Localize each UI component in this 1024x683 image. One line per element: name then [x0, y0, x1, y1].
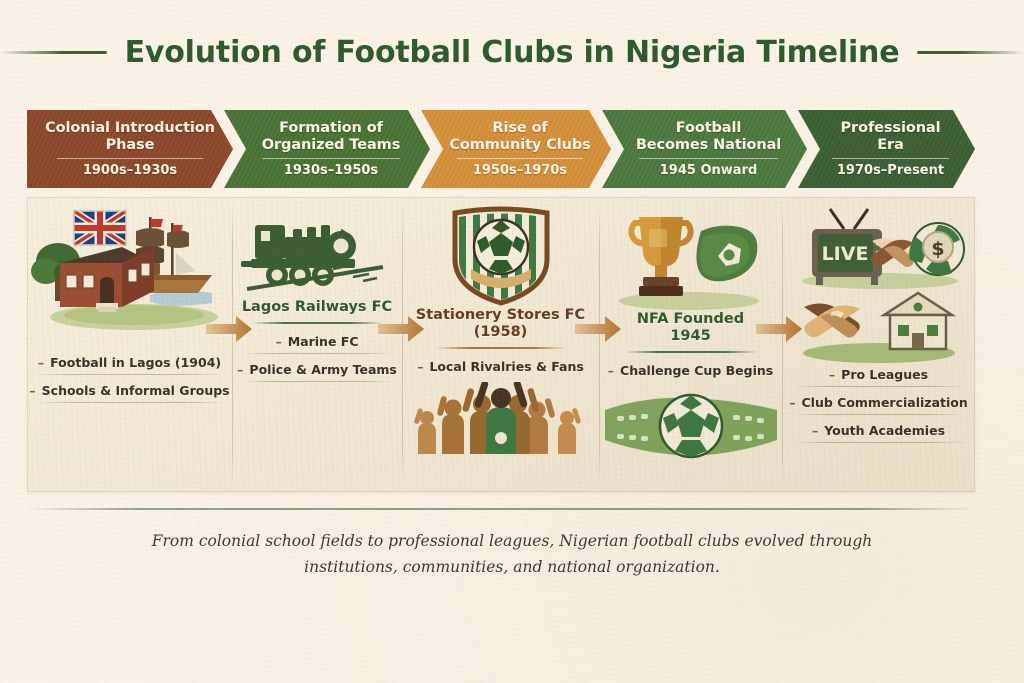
- bullet-divider: [242, 381, 392, 382]
- list-item-label: Marine FC: [288, 334, 359, 349]
- bullet-divider: [793, 386, 965, 387]
- phase-title-line1: Formation of: [279, 120, 383, 137]
- list-item[interactable]: – Pro Leagues: [829, 365, 928, 386]
- club-crest-illustration: [441, 203, 561, 307]
- soccer-ball-icon: [660, 395, 722, 457]
- list-item-label: Football in Lagos (1904): [50, 355, 221, 370]
- list-item-label: Local Rivalries & Fans: [429, 359, 583, 374]
- phase-years: 1945 Onward: [660, 163, 758, 178]
- phase-title-line1: Colonial Introduction: [45, 120, 215, 137]
- bullet-divider: [35, 374, 224, 375]
- colonial-scene-illustration: [30, 203, 230, 331]
- list-item[interactable]: – Challenge Cup Begins: [608, 361, 773, 382]
- phase-years: 1950s–1970s: [473, 163, 567, 178]
- phase-banner-formation-of-organized-teams[interactable]: Formation of Organized Teams 1930s–1950s: [224, 110, 430, 188]
- bullet-list: – Challenge Cup Begins: [607, 361, 774, 382]
- phase-years: 1930s–1950s: [284, 163, 378, 178]
- column-headline-secondary: (1958): [474, 324, 528, 341]
- phase-divider: [262, 158, 401, 159]
- soccer-ball-icon: [474, 220, 528, 274]
- phase-banner-row: Colonial Introduction Phase 1900s–1930s …: [27, 110, 975, 188]
- phase-title-line2: Becomes National: [636, 137, 781, 154]
- timeline-column-formation-of-organized-teams: Lagos Railways FC – Marine FC – Police &…: [232, 197, 402, 492]
- phase-banner-colonial-introduction-phase[interactable]: Colonial Introduction Phase 1900s–1930s: [27, 110, 233, 188]
- pitch-ball-illustration: [601, 388, 781, 462]
- bullet-dash-icon: –: [789, 395, 795, 410]
- list-item-label: Youth Academies: [824, 423, 945, 438]
- timeline-column-colonial-introduction-phase: – Football in Lagos (1904) – Schools & I…: [27, 197, 232, 492]
- list-item[interactable]: – Football in Lagos (1904): [38, 353, 221, 374]
- phase-title-line2: Era: [877, 137, 904, 154]
- timeline-column-rise-of-community-clubs: Stationery Stores FC (1958) – Local Riva…: [402, 197, 599, 492]
- list-item-label: Pro Leagues: [841, 367, 928, 382]
- title-text: Evolution of Football Clubs in Nigeria T…: [125, 35, 900, 70]
- money-soccer-ball-icon: $: [909, 223, 964, 275]
- flow-arrow-1: [206, 316, 252, 342]
- phase-banner-rise-of-community-clubs[interactable]: Rise of Community Clubs 1950s–1970s: [421, 110, 611, 188]
- handshake-icon: [804, 303, 860, 337]
- phase-title-line2: Phase: [106, 137, 155, 154]
- phase-title-line1: Football: [676, 120, 741, 137]
- list-item[interactable]: – Marine FC: [275, 332, 358, 353]
- phase-banner-professional-era[interactable]: Professional Era 1970s–Present: [798, 110, 975, 188]
- phase-years: 1900s–1930s: [83, 163, 177, 178]
- bullet-divider: [793, 414, 965, 415]
- bullet-dash-icon: –: [29, 383, 35, 398]
- list-item[interactable]: – Youth Academies: [812, 421, 945, 442]
- timeline-column-professional-era: LIVE $: [782, 197, 975, 492]
- handshake-icon: [870, 238, 915, 267]
- tv-live-label: LIVE: [821, 243, 868, 265]
- timeline-column-football-becomes-national: NFA Founded 1945 – Challenge Cup Begins: [599, 197, 782, 492]
- club-crest-shield-icon: [441, 203, 561, 307]
- list-item-label: Club Commercialization: [801, 395, 967, 410]
- bullet-dash-icon: –: [608, 363, 614, 378]
- flow-arrow-3: [575, 316, 621, 342]
- bullet-dash-icon: –: [417, 359, 423, 374]
- list-item-label: Police & Army Teams: [249, 362, 396, 377]
- list-item-label: Challenge Cup Begins: [620, 363, 773, 378]
- phase-divider: [832, 158, 948, 159]
- column-headline: Lagos Railways FC: [242, 299, 392, 316]
- page-title: Evolution of Football Clubs in Nigeria T…: [0, 28, 1024, 76]
- phase-years: 1970s–Present: [837, 163, 944, 178]
- fans-illustration: [406, 382, 596, 454]
- locomotive-illustration: [237, 203, 397, 299]
- television-live-icon: LIVE: [812, 209, 882, 285]
- bullet-list: – Football in Lagos (1904) – Schools & I…: [35, 353, 224, 409]
- phase-title-line1: Rise of: [492, 120, 547, 137]
- timeline-content-panel: – Football in Lagos (1904) – Schools & I…: [27, 197, 975, 492]
- phase-title-line2: Organized Teams: [262, 137, 400, 154]
- list-item-label: Schools & Informal Groups: [42, 383, 230, 398]
- phase-banner-football-becomes-national[interactable]: Football Becomes National 1945 Onward: [602, 110, 807, 188]
- broadcast-commerce-illustration: LIVE $: [786, 203, 972, 289]
- column-headline: Stationery Stores FC: [416, 307, 585, 324]
- academy-partnership-illustration: [786, 287, 972, 363]
- phase-divider: [639, 158, 777, 159]
- bullet-dash-icon: –: [829, 367, 835, 382]
- nigeria-map-icon: [696, 226, 757, 282]
- list-item[interactable]: – Local Rivalries & Fans: [417, 357, 584, 378]
- footer-caption: From colonial school fields to professio…: [142, 528, 882, 580]
- list-item[interactable]: – Police & Army Teams: [237, 360, 397, 381]
- title-rule-right: [917, 51, 1024, 54]
- column-headline: NFA Founded: [637, 311, 744, 328]
- steam-locomotive-icon: [237, 203, 397, 299]
- headline-rule: [435, 347, 567, 349]
- footer-divider: [27, 508, 975, 510]
- phase-title-line1: Professional: [841, 120, 941, 137]
- list-item[interactable]: – Schools & Informal Groups: [29, 381, 229, 402]
- bullet-list: – Marine FC – Police & Army Teams: [240, 332, 394, 388]
- title-rule-left: [0, 51, 107, 54]
- headline-rule: [251, 322, 383, 324]
- bullet-divider: [793, 442, 965, 443]
- phase-title-line2: Community Clubs: [449, 137, 590, 154]
- bullet-divider: [35, 402, 224, 403]
- trophy-icon: [631, 217, 690, 296]
- bullet-list: – Pro Leagues – Club Commercialization –…: [790, 365, 967, 449]
- phase-divider: [57, 158, 202, 159]
- union-jack-flag-icon: [74, 211, 126, 245]
- bullet-dash-icon: –: [812, 423, 818, 438]
- cheering-fans-icon: [406, 382, 596, 454]
- column-headline-secondary: 1945: [670, 328, 710, 345]
- list-item[interactable]: – Club Commercialization: [789, 393, 968, 414]
- bullet-dash-icon: –: [38, 355, 44, 370]
- academy-building-icon: [884, 293, 952, 349]
- money-symbol-label: $: [931, 238, 944, 260]
- nfa-illustration: [603, 203, 778, 311]
- bullet-list: – Local Rivalries & Fans: [410, 357, 591, 378]
- bullet-dash-icon: –: [275, 334, 281, 349]
- headline-rule: [625, 351, 757, 353]
- flow-arrow-4: [756, 316, 802, 342]
- bullet-divider: [242, 353, 392, 354]
- flow-arrow-2: [378, 316, 424, 342]
- phase-divider: [457, 158, 583, 159]
- bullet-dash-icon: –: [237, 362, 243, 377]
